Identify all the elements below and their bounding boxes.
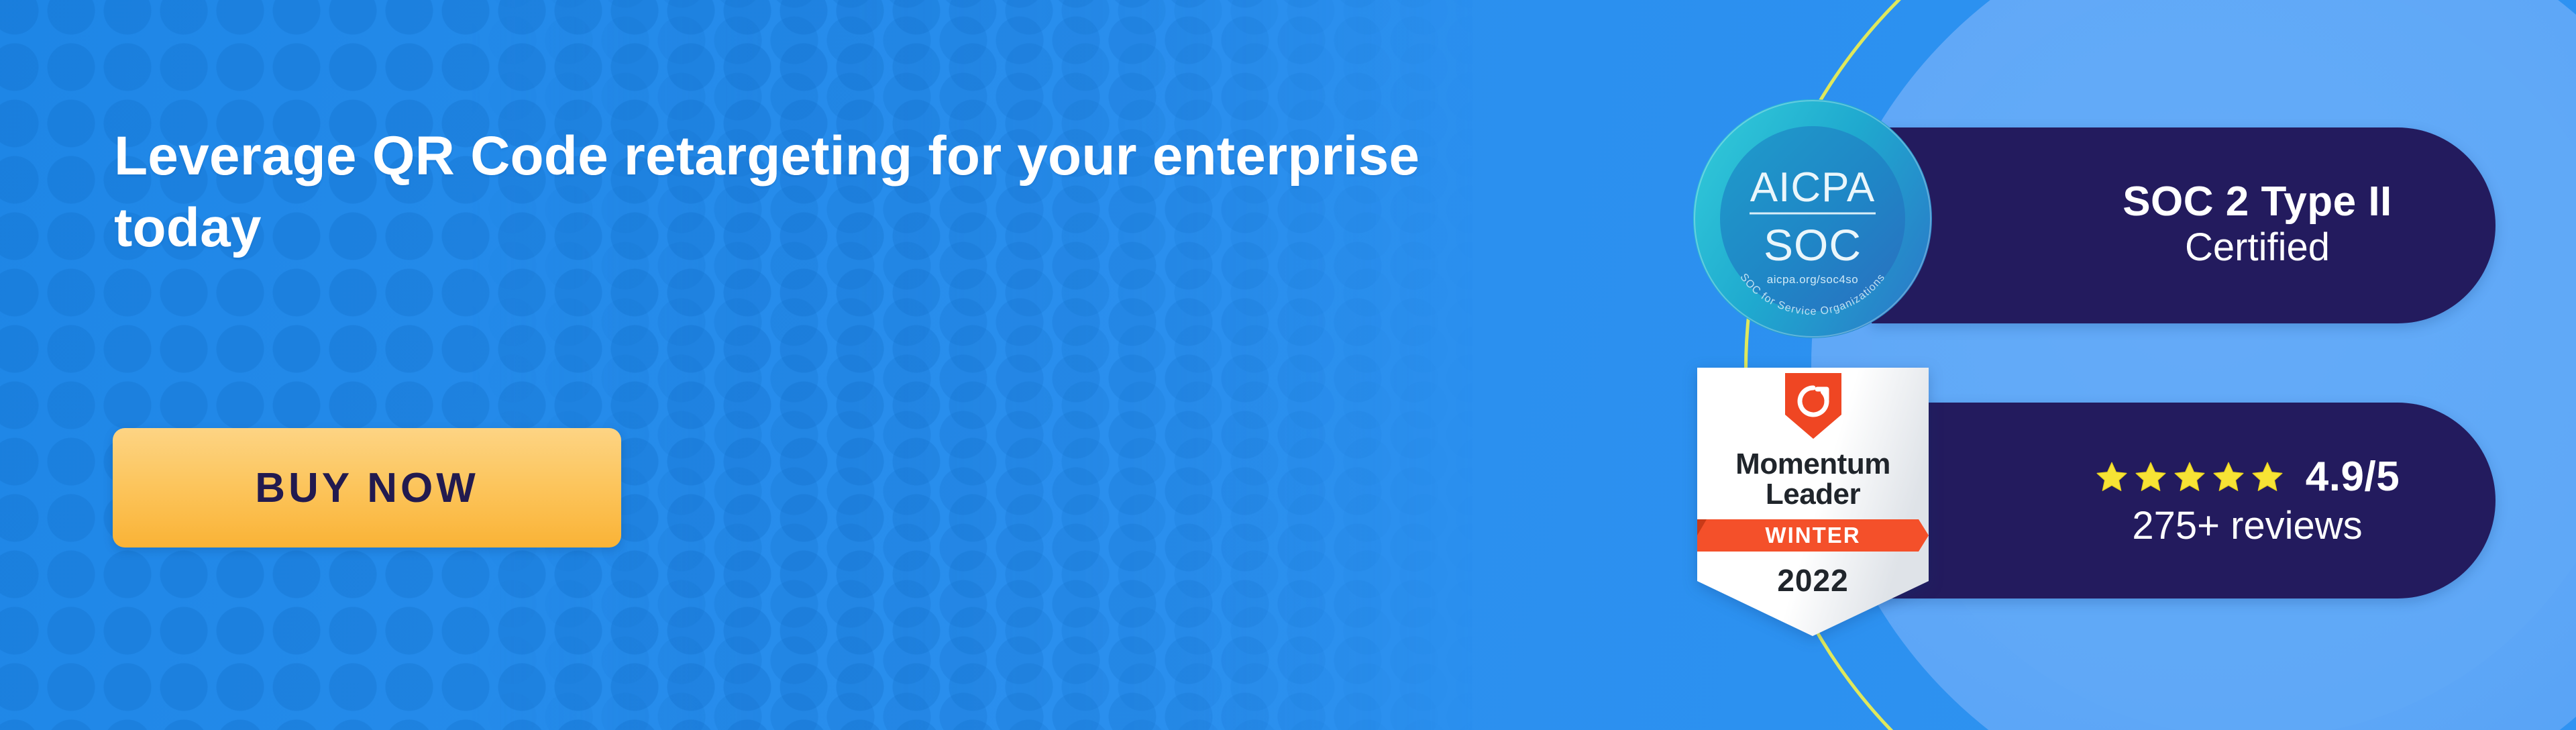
- aicpa-seal-bottom-text: SOC: [1764, 220, 1862, 270]
- star-icon: [2173, 460, 2206, 494]
- star-icon: [2095, 460, 2129, 494]
- rating-row: 4.9/5: [2095, 453, 2400, 501]
- aicpa-seal-top-text: AICPA: [1750, 164, 1875, 211]
- g2-season-label: WINTER: [1765, 523, 1860, 548]
- soc2-subtitle: Certified: [2185, 225, 2330, 270]
- banner-copy: Leverage QR Code retargeting for your en…: [114, 121, 1523, 264]
- g2-badge-content: Momentum Leader WINTER 2022: [1697, 368, 1929, 636]
- reviews-count: 275+ reviews: [2132, 503, 2362, 548]
- g2-title: Momentum Leader: [1735, 450, 1890, 510]
- g2-title-line2: Leader: [1735, 480, 1890, 510]
- star-icon: [2212, 460, 2245, 494]
- soc2-badge: SOC 2 Type II Certified: [1872, 127, 2495, 323]
- aicpa-soc-seal: AICPA SOC aicpa.org/soc4so SOC for Servi…: [1688, 94, 1937, 344]
- aicpa-seal-url: aicpa.org/soc4so: [1767, 273, 1859, 286]
- star-icon: [2251, 460, 2284, 494]
- star-rating: [2095, 460, 2284, 494]
- rating-value: 4.9/5: [2306, 453, 2400, 501]
- buy-now-button[interactable]: BUY NOW: [113, 428, 621, 547]
- dot-pattern-center: [470, 0, 1476, 730]
- promo-banner: Leverage QR Code retargeting for your en…: [0, 0, 2576, 730]
- g2-logo-icon: [1782, 372, 1844, 441]
- g2-year-label: 2022: [1777, 562, 1848, 598]
- reviews-badge: 4.9/5 275+ reviews: [1872, 403, 2495, 598]
- page-title: Leverage QR Code retargeting for your en…: [114, 121, 1523, 264]
- star-icon: [2134, 460, 2167, 494]
- g2-season-ribbon: WINTER: [1697, 517, 1929, 554]
- g2-title-line1: Momentum: [1735, 450, 1890, 480]
- g2-momentum-leader-badge: Momentum Leader WINTER 2022: [1697, 368, 1929, 636]
- soc2-title: SOC 2 Type II: [2123, 180, 2392, 225]
